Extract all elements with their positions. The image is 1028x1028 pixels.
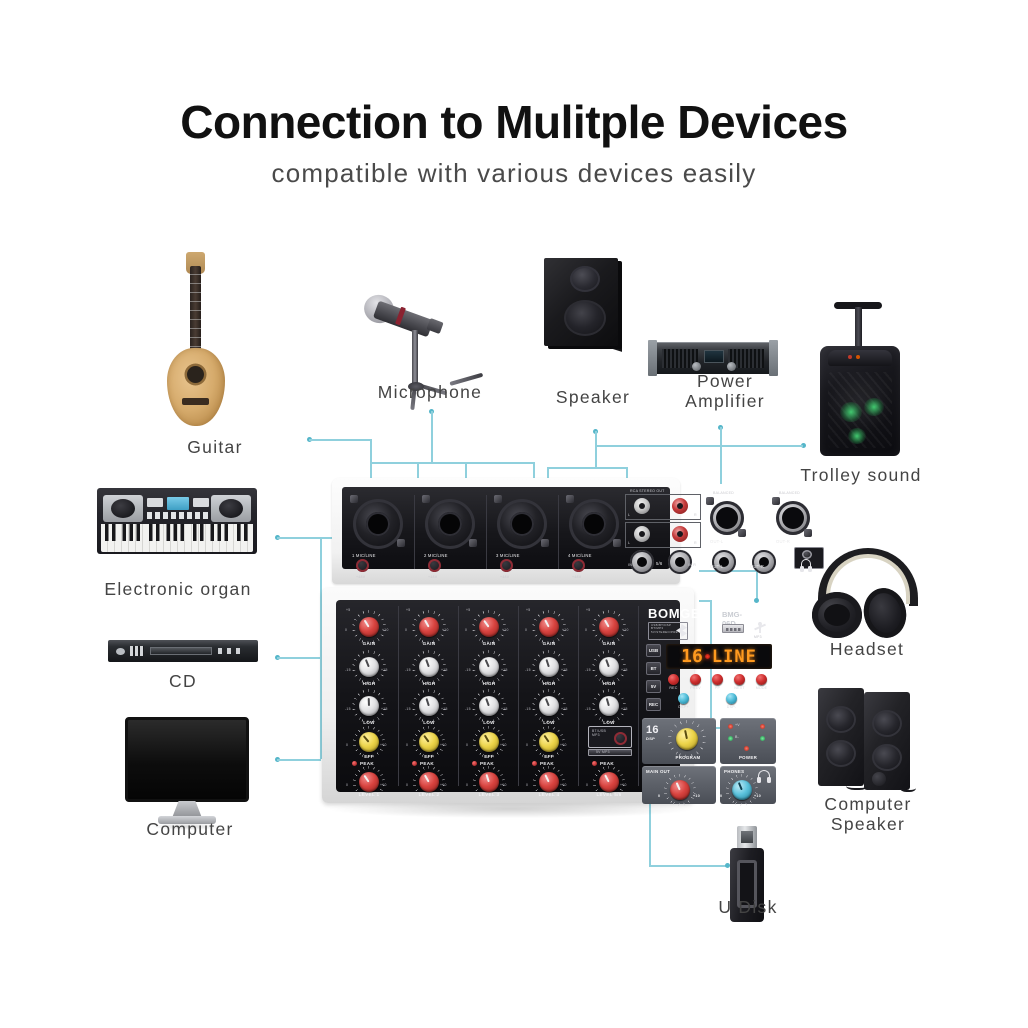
- speaker-tweeter-icon: [570, 266, 600, 292]
- side-button-rec[interactable]: REC: [646, 698, 661, 711]
- wire-udisk-h: [649, 865, 727, 867]
- transport-label-mode: MODE: [753, 686, 770, 690]
- low-knob-5[interactable]: [599, 696, 619, 716]
- trs-input-left[interactable]: [630, 550, 654, 574]
- gain-label-1: GAIN: [356, 641, 382, 646]
- mp3-label: MP3: [754, 635, 762, 639]
- amplifier-knob-right-icon: [727, 362, 736, 371]
- gain-max-label-5: +10: [622, 628, 629, 632]
- xlr-pin-r2: [796, 513, 800, 517]
- dsp-unit: DSP: [646, 736, 655, 741]
- phones-headphone-icon: [758, 770, 770, 781]
- phantom-button-2[interactable]: [428, 559, 441, 572]
- strip-separator-3: [518, 606, 519, 786]
- xlr-output-label-left: OUT-L: [710, 539, 723, 544]
- transport-button-next[interactable]: [734, 674, 745, 685]
- level-label-1: LEVEL 1: [352, 792, 386, 797]
- low-knob-4[interactable]: [539, 696, 559, 716]
- label-microphone: Microphone: [362, 383, 498, 403]
- jack-screw-3a: [494, 495, 502, 503]
- keyboard-speaker-right-icon: [211, 495, 251, 522]
- headphone-jack-icon[interactable]: [801, 559, 811, 567]
- eff-min-label-4: 0: [526, 743, 528, 747]
- eff-knob-1[interactable]: [359, 732, 379, 752]
- channel-strip-2: +5 0 +10 GAIN -15 +15 HIGH -15 +15 LOW 0…: [402, 606, 456, 786]
- phones-max: +10: [754, 794, 761, 798]
- balanced-label-r: BALANCED: [779, 491, 800, 495]
- high-label-3: HIGH: [476, 681, 502, 686]
- monitor-screen-icon: [125, 717, 249, 802]
- label-trolley-sound: Trolley sound: [786, 466, 936, 486]
- page-title: Connection to Mulitple Devices: [0, 95, 1028, 149]
- level-min-label-4: 0: [526, 783, 528, 787]
- device-cd: [108, 640, 258, 662]
- gain-min-label-4: 0: [525, 628, 527, 632]
- jack-screw-4b: [613, 539, 621, 547]
- trs-in-label-r: IN R: [688, 563, 696, 567]
- program-label: PROGRAM: [667, 755, 709, 760]
- phantom-label-3: +48V: [500, 575, 509, 579]
- high-min-label-1: -15: [345, 668, 351, 672]
- wire-mic-bus: [370, 462, 534, 464]
- speaker-woofer-icon: [564, 300, 606, 336]
- jack-screw-2a: [422, 495, 430, 503]
- trs-out-label-right: OUT-R: [750, 564, 764, 569]
- transport-label-rec: REC: [666, 686, 681, 690]
- jack-screw-1a: [350, 495, 358, 503]
- eff-max-label-2: +10: [440, 743, 447, 747]
- rear-divider-2: [486, 495, 487, 569]
- label-computer: Computer: [120, 820, 260, 840]
- trolley-glow-2-icon: [864, 398, 884, 416]
- wire-guitar-h: [309, 439, 371, 441]
- power-led-main: [744, 746, 749, 751]
- phones-min: 0: [720, 794, 722, 798]
- label-guitar: Guitar: [150, 438, 280, 458]
- transport-label-next: NEXT: [731, 686, 748, 690]
- amplifier-display-icon: [704, 350, 724, 363]
- level-max-label-4: +10: [560, 783, 567, 787]
- strip-separator-4: [578, 606, 579, 786]
- wire-guitar-v: [370, 439, 372, 483]
- level-max-label-1: +10: [380, 783, 387, 787]
- xlr-pin-l3: [725, 522, 729, 526]
- eff-min-label-1: 0: [346, 743, 348, 747]
- high-label-5: HIGH: [596, 681, 622, 686]
- label-u-disk: U Disk: [686, 898, 810, 918]
- power-panel-label: POWER: [724, 755, 772, 760]
- xlr-screw-la: [706, 497, 714, 505]
- device-headset: [812, 548, 924, 640]
- high-min-label-3: -15: [465, 668, 471, 672]
- gain-knob-5[interactable]: [599, 617, 619, 637]
- keyboard-pad-right-icon: [193, 498, 209, 507]
- eff-max-label-4: +10: [560, 743, 567, 747]
- label-computer-speaker: Computer Speaker: [790, 795, 946, 834]
- low-max-label-1: +15: [381, 707, 388, 711]
- device-computer: [125, 717, 255, 831]
- wire-mic-v: [431, 411, 433, 463]
- rear-divider-3: [558, 495, 559, 569]
- eff-knob-2[interactable]: [419, 732, 439, 752]
- mp3-input-jack[interactable]: [614, 732, 627, 745]
- gain-top-label-5: +5: [586, 608, 590, 612]
- gain-top-label-4: +5: [526, 608, 530, 612]
- side-button-bt[interactable]: BT: [646, 662, 661, 675]
- wire-phones-v: [756, 570, 758, 600]
- low-knob-2[interactable]: [419, 696, 439, 716]
- wire-trolley-h: [595, 445, 803, 447]
- eff-label-3: EFF: [476, 754, 502, 759]
- combo-jack-4[interactable]: [569, 499, 619, 549]
- microphone-stand-pole-icon: [412, 330, 418, 386]
- gain-knob-2[interactable]: [419, 617, 439, 637]
- device-guitar: [163, 248, 229, 430]
- gain-label-2: GAIN: [416, 641, 442, 646]
- low-label-5: LOW: [596, 720, 622, 725]
- program-knob[interactable]: [676, 728, 698, 750]
- device-computer-speaker: [812, 688, 922, 794]
- low-knob-3[interactable]: [479, 696, 499, 716]
- gain-max-label-3: +10: [502, 628, 509, 632]
- xlr-screw-lb: [738, 529, 746, 537]
- level-knob-1[interactable]: [359, 772, 379, 792]
- level-max-label-5: +10: [620, 783, 627, 787]
- combo-jack-1[interactable]: [353, 499, 403, 549]
- rca-jack-1-left[interactable]: [634, 498, 650, 514]
- computer-speaker-driver-2: [826, 740, 856, 767]
- device-trolley-sound: [812, 302, 908, 460]
- trolley-led-b-icon: [856, 355, 860, 359]
- gain-knob-1[interactable]: [359, 617, 379, 637]
- transport-button-playpause[interactable]: [712, 674, 723, 685]
- eff-knob-3[interactable]: [479, 732, 499, 752]
- mp3-usb-icon: [754, 622, 767, 635]
- power-led-b-plus: [760, 736, 765, 741]
- high-max-label-3: +15: [501, 668, 508, 672]
- mic-input-jack[interactable]: [802, 550, 812, 559]
- computer-speaker-right-icon: [864, 692, 910, 790]
- jack-screw-4a: [566, 495, 574, 503]
- low-max-label-3: +15: [501, 707, 508, 711]
- high-max-label-5: +15: [621, 668, 628, 672]
- wire-speaker-v: [595, 431, 597, 468]
- transport-label-prev: PREV: [687, 686, 704, 690]
- cd-player-dial-icon: [116, 648, 125, 655]
- gain-min-label-3: 0: [465, 628, 467, 632]
- low-label-1: LOW: [356, 720, 382, 725]
- power-led-plus-v: [728, 724, 733, 729]
- dsp-label-minus: DSP-: [722, 705, 741, 709]
- xlr-pin-r3: [791, 522, 795, 526]
- trs-output-left[interactable]: [712, 550, 736, 574]
- label-speaker: Speaker: [528, 388, 658, 408]
- low-max-label-4: +15: [561, 707, 568, 711]
- phantom-label-4: +48V: [572, 575, 581, 579]
- dsp-button-minus[interactable]: [726, 693, 737, 704]
- eff-label-2: EFF: [416, 754, 442, 759]
- power-led-b-minus: [728, 736, 733, 741]
- gain-max-label-4: +10: [562, 628, 569, 632]
- gain-max-label-2: +10: [442, 628, 449, 632]
- high-max-label-4: +15: [561, 668, 568, 672]
- xlr-pin-l1: [720, 513, 724, 517]
- phantom-label-2: +48V: [428, 575, 437, 579]
- wire-computer-h: [277, 759, 321, 761]
- infographic-canvas: Connection to Mulitple Devices compatibl…: [0, 0, 1028, 1028]
- mic-line-label-1: 1 MIC/LINE: [352, 553, 376, 558]
- gain-top-label-2: +5: [406, 608, 410, 612]
- wire-amp-v: [720, 427, 722, 484]
- rca-jack-1-right[interactable]: [672, 498, 688, 514]
- low-min-label-1: -15: [345, 707, 351, 711]
- phones-knob[interactable]: [732, 780, 752, 800]
- device-electronic-organ: [97, 488, 257, 554]
- high-max-label-2: +15: [441, 668, 448, 672]
- label-power-amplifier: Power Amplifier: [648, 372, 802, 411]
- wire-dot-headset: [754, 598, 759, 603]
- keyboard-black-keys-icon: [101, 524, 253, 541]
- strip-separator-5: [638, 606, 639, 786]
- side-button-5v[interactable]: 5V: [646, 680, 661, 693]
- combo-jack-3[interactable]: [497, 499, 547, 549]
- trolley-glow-3-icon: [848, 428, 866, 444]
- led-display-mode: LINE: [712, 647, 757, 667]
- led-display-dot: [705, 654, 710, 659]
- microphone-body-icon: [373, 301, 434, 338]
- xlr-pin-r1: [786, 513, 790, 517]
- high-min-label-5: -15: [585, 668, 591, 672]
- amplifier-rack-ear-right-icon: [769, 340, 778, 376]
- amplifier-rack-ear-left-icon: [648, 340, 657, 376]
- gain-label-4: GAIN: [536, 641, 562, 646]
- trolley-control-panel-icon: [828, 350, 892, 366]
- rca-label-1-r: R: [694, 513, 697, 517]
- phantom-button-3[interactable]: [500, 559, 513, 572]
- led-display-number: 16: [681, 646, 703, 667]
- wire-speaker-bus: [547, 467, 627, 469]
- gain-min-label-2: 0: [405, 628, 407, 632]
- level-min-label-3: 0: [466, 783, 468, 787]
- channel-strip-3: +5 0 +10 GAIN -15 +15 HIGH -15 +15 LOW 0…: [462, 606, 516, 786]
- balanced-label-l: BALANCED: [713, 491, 734, 495]
- eff-label-1: EFF: [356, 754, 382, 759]
- level-label-4: LEVEL 4: [532, 792, 566, 797]
- level-label-5: LEVEL 5/6: [588, 792, 630, 797]
- gain-max-label-1: +10: [382, 628, 389, 632]
- main-out-knob[interactable]: [670, 780, 690, 800]
- low-max-label-5: +15: [621, 707, 628, 711]
- channel-strip-1: +5 0 +10 GAIN -15 +15 HIGH -15 +15 LOW 0…: [342, 606, 396, 786]
- low-min-label-5: -15: [585, 707, 591, 711]
- computer-speaker-driver-1: [826, 706, 856, 733]
- rca-label-1-l: L: [628, 513, 630, 517]
- gain-knob-4[interactable]: [539, 617, 559, 637]
- channel-strip-5: +5 0 +10 GAIN -15 +15 HIGH -15 +15 LOW B…: [582, 606, 636, 786]
- brand-name: BOMGE: [648, 606, 700, 621]
- high-label-4: HIGH: [536, 681, 562, 686]
- computer-speaker-cable-2: [900, 782, 916, 792]
- main-out-min: 0: [658, 794, 660, 798]
- low-min-label-2: -15: [405, 707, 411, 711]
- keyboard-display-icon: [167, 497, 189, 510]
- gain-min-label-1: 0: [345, 628, 347, 632]
- high-label-2: HIGH: [416, 681, 442, 686]
- gain-knob-3[interactable]: [479, 617, 499, 637]
- trolley-glow-1-icon: [840, 402, 862, 422]
- trs-out-label-left: OUT-L: [710, 564, 723, 569]
- computer-speaker-left-icon: [818, 688, 864, 786]
- low-min-label-3: -15: [465, 707, 471, 711]
- low-knob-1[interactable]: [359, 696, 379, 716]
- mic-line-label-2: 2 MIC/LINE: [424, 553, 448, 558]
- guitar-soundhole-icon: [187, 366, 204, 383]
- usb-5v-slot[interactable]: [588, 749, 632, 756]
- power-led-label-plus-v: +V: [735, 723, 740, 727]
- computer-speaker-cable-1: [846, 780, 868, 790]
- wire-cd-h: [277, 657, 321, 659]
- level-label-3: LEVEL 3: [472, 792, 506, 797]
- device-speaker: [538, 254, 634, 364]
- cd-player-tray-icon: [150, 647, 212, 655]
- level-label-2: LEVEL 2: [412, 792, 446, 797]
- trolley-led-a-icon: [848, 355, 852, 359]
- audio-mixer[interactable]: 1 MIC/LINE +48V 2 MIC/LINE +48V 3 MIC/LI…: [322, 478, 694, 826]
- high-knob-4[interactable]: [539, 657, 559, 677]
- trs-input-right[interactable]: [668, 550, 692, 574]
- level-knob-4[interactable]: [539, 772, 559, 792]
- keyboard-pad-left-icon: [147, 498, 163, 507]
- combo-jack-2[interactable]: [425, 499, 475, 549]
- computer-speaker-driver-3: [872, 710, 902, 737]
- power-led-label-b: B-: [735, 735, 739, 739]
- eff-knob-4[interactable]: [539, 732, 559, 752]
- device-microphone: [362, 278, 472, 393]
- trs-output-right[interactable]: [752, 550, 776, 574]
- high-knob-2[interactable]: [419, 657, 439, 677]
- trs-in-label-mid: 5/6: [656, 561, 662, 566]
- level-max-label-2: +10: [440, 783, 447, 787]
- rca-group-label: RCA STEREO OUT: [630, 489, 665, 493]
- led-display: 16 LINE: [666, 644, 772, 669]
- low-min-label-4: -15: [525, 707, 531, 711]
- channel-strip-4: +5 0 +10 GAIN -15 +15 HIGH -15 +15 LOW 0…: [522, 606, 576, 786]
- phantom-button-1[interactable]: [356, 559, 369, 572]
- mic-line-label-3: 3 MIC/LINE: [496, 553, 520, 558]
- cd-player-buttons-icon: [130, 646, 144, 656]
- level-min-label-5: 0: [586, 783, 588, 787]
- amplifier-knob-left-icon: [692, 362, 701, 371]
- high-knob-1[interactable]: [359, 657, 379, 677]
- level-min-label-1: 0: [346, 783, 348, 787]
- rear-divider-1: [414, 495, 415, 569]
- power-led-minus-v: [760, 724, 765, 729]
- gain-top-label-1: +5: [346, 608, 350, 612]
- level-knob-2[interactable]: [419, 772, 439, 792]
- usb-5v-label: 5V MP3: [596, 750, 610, 754]
- eff-min-label-2: 0: [406, 743, 408, 747]
- high-label-1: HIGH: [356, 681, 382, 686]
- high-knob-5[interactable]: [599, 657, 619, 677]
- high-max-label-1: +15: [381, 668, 388, 672]
- transport-button-mode[interactable]: [756, 674, 767, 685]
- eff-min-label-3: 0: [466, 743, 468, 747]
- jack-screw-3b: [541, 539, 549, 547]
- peak-led-2: [412, 761, 417, 766]
- main-out-max: +10: [693, 794, 700, 798]
- level-knob-5[interactable]: [599, 772, 619, 792]
- computer-speaker-volume-knob-icon: [872, 772, 886, 786]
- side-button-usb[interactable]: USB: [646, 644, 661, 657]
- xlr-output-label-right: OUT-R: [776, 539, 790, 544]
- phantom-button-4[interactable]: [572, 559, 585, 572]
- high-min-label-2: -15: [405, 668, 411, 672]
- guitar-frets-icon: [190, 274, 201, 354]
- jack-screw-1b: [397, 539, 405, 547]
- transport-button-prev[interactable]: [690, 674, 701, 685]
- eff-label-4: EFF: [536, 754, 562, 759]
- low-label-3: LOW: [476, 720, 502, 725]
- eff-max-label-1: +10: [380, 743, 387, 747]
- peak-led-4: [532, 761, 537, 766]
- wire-organ-h: [277, 537, 321, 539]
- gain-min-label-5: 0: [585, 628, 587, 632]
- low-max-label-2: +15: [441, 707, 448, 711]
- dsp-label-plus: DSP+: [674, 705, 693, 709]
- trs-in-label-l: IN L: [628, 563, 635, 567]
- peak-led-1: [352, 761, 357, 766]
- level-max-label-3: +10: [500, 783, 507, 787]
- guitar-body-icon: [167, 348, 225, 426]
- certification-text: USB/BT/DSP BT/MP3 5V/STEREO/PRE: [651, 624, 681, 634]
- mixer-front-panel: +5 0 +10 GAIN -15 +15 HIGH -15 +15 LOW 0…: [336, 600, 680, 792]
- strip-separator-2: [458, 606, 459, 786]
- dsp-button-plus[interactable]: [678, 693, 689, 704]
- page-subtitle: compatible with various devices easily: [0, 158, 1028, 189]
- gain-label-5: GAIN: [596, 641, 622, 646]
- usb-port[interactable]: [722, 624, 744, 633]
- xlr-screw-ra: [772, 497, 780, 505]
- peak-led-5: [592, 761, 597, 766]
- rca-jack-2-right[interactable]: [672, 526, 688, 542]
- cd-player-indicator-icon: [218, 648, 242, 654]
- main-out-label: MAIN OUT: [646, 769, 670, 774]
- label-headset: Headset: [802, 640, 932, 660]
- xlr-screw-rb: [804, 529, 812, 537]
- gain-label-3: GAIN: [476, 641, 502, 646]
- keyboard-buttons-icon: [147, 512, 209, 519]
- label-electronic-organ: Electronic organ: [92, 580, 264, 600]
- headset-earpad-icon: [824, 604, 850, 626]
- level-min-label-2: 0: [406, 783, 408, 787]
- level-knob-3[interactable]: [479, 772, 499, 792]
- gain-top-label-3: +5: [466, 608, 470, 612]
- high-min-label-4: -15: [525, 668, 531, 672]
- rca-label-2-r: R: [694, 541, 697, 545]
- transport-label-playpause: PP: [710, 686, 725, 690]
- rca-jack-2-left[interactable]: [634, 526, 650, 542]
- high-knob-3[interactable]: [479, 657, 499, 677]
- xlr-pin-l2: [730, 513, 734, 517]
- label-cd: CD: [118, 672, 248, 692]
- rca-label-2-l: L: [628, 541, 630, 545]
- transport-button-rec[interactable]: [668, 674, 679, 685]
- low-label-4: LOW: [536, 720, 562, 725]
- keyboard-speaker-left-icon: [103, 495, 143, 522]
- guitar-bridge-icon: [182, 398, 209, 405]
- computer-speaker-driver-4: [872, 744, 902, 771]
- jack-screw-2b: [469, 539, 477, 547]
